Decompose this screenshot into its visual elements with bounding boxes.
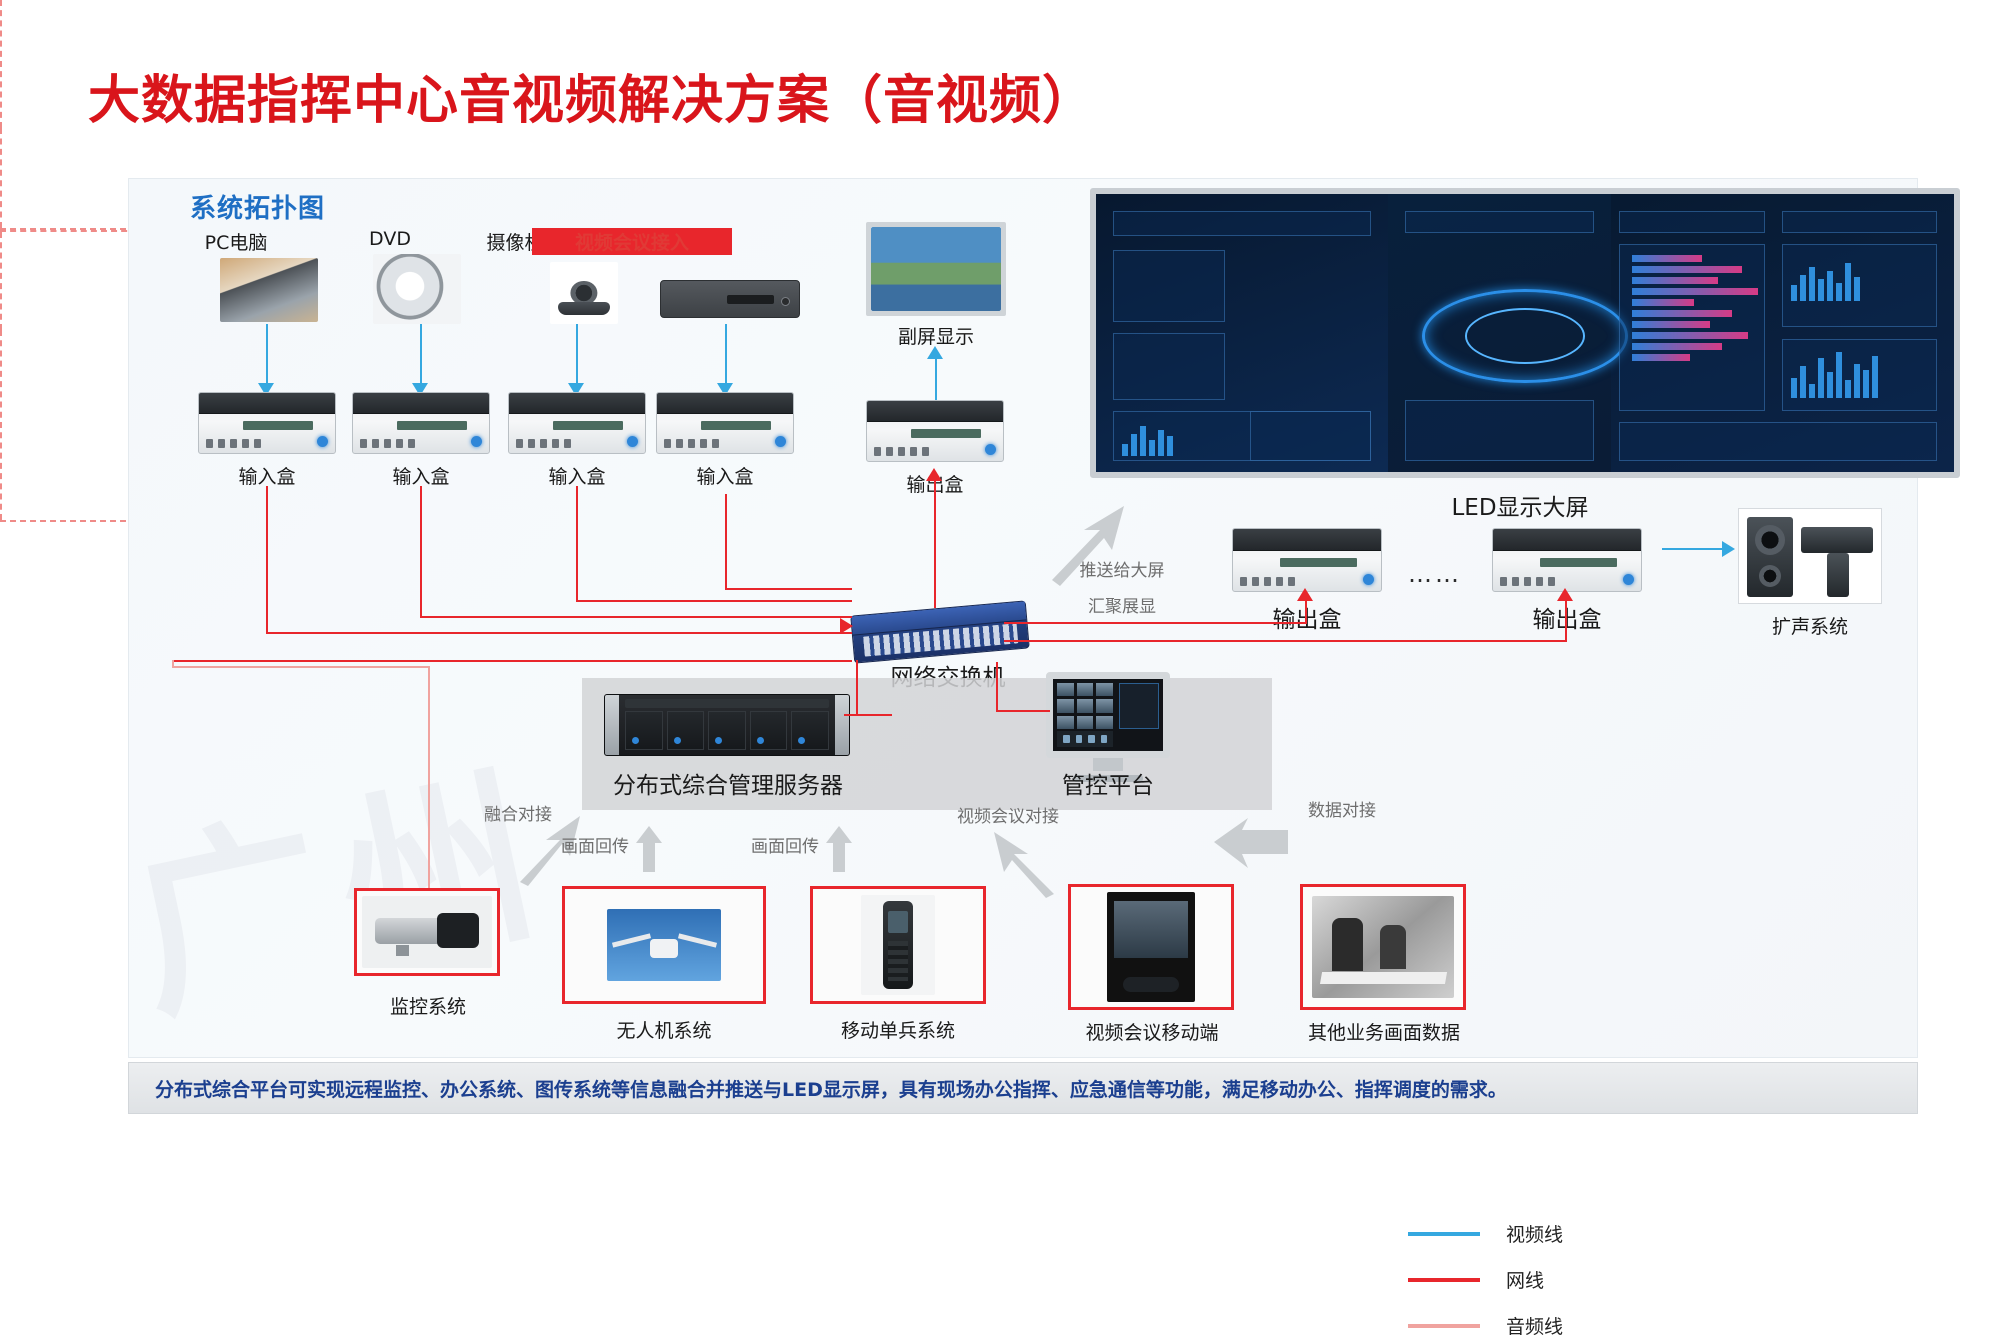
source-label-pc: PC电脑	[176, 228, 296, 255]
input-box-1	[198, 392, 336, 454]
video-line-vc	[725, 324, 727, 386]
annotation-image-return-1: 画面回传	[540, 832, 650, 857]
audio-line-to-pa	[1662, 548, 1726, 550]
audio-arrow-to-pa-icon	[1722, 541, 1735, 557]
net-line-inbox2-h	[420, 616, 852, 618]
input-box-3	[508, 392, 646, 454]
terminal-cctv-frame	[354, 888, 500, 976]
legend-item-network: 网线	[1408, 1266, 1544, 1293]
net-line-switch-to-suboutbox	[934, 480, 936, 608]
annotation-video-conf-dock: 视频会议对接	[918, 802, 1098, 827]
dvd-photo	[373, 254, 461, 324]
net-line-switch-down	[856, 660, 858, 714]
net-line-inbox3-h	[576, 600, 852, 602]
net-line-switch-to-server	[856, 714, 892, 716]
net-line-switch-outbox2-h	[1004, 640, 1567, 642]
net-line-switch-left-bus	[172, 660, 852, 662]
legend-label-audio: 音频线	[1506, 1312, 1563, 1339]
net-line-switch-outbox1-h	[1004, 622, 1307, 624]
net-line-inbox3-v	[576, 486, 578, 602]
data-link-office-v	[0, 330, 2, 520]
terminal-drone-frame	[562, 886, 766, 1004]
audio-line-cctv-corner	[172, 660, 174, 668]
input-box-2	[352, 392, 490, 454]
pa-speaker-icon	[1738, 508, 1882, 604]
footer-bar: 分布式综合平台可实现远程监控、办公系统、图传系统等信息融合并推送与LED显示屏，…	[128, 1062, 1918, 1114]
source-label-dvd: DVD	[330, 228, 450, 250]
audio-line-cctv-v	[428, 666, 430, 888]
net-line-server-stub	[844, 714, 858, 716]
terminal-radio-frame	[810, 886, 986, 1004]
sub-display-label: 副屏显示	[856, 322, 1016, 349]
net-line-console-v	[996, 662, 998, 710]
output-box-1	[1232, 528, 1382, 592]
net-arrow-suboutbox-icon	[926, 468, 942, 481]
terminal-drone-label: 无人机系统	[560, 1016, 768, 1043]
video-conf-dock-arrow-icon	[984, 828, 1058, 898]
input-box-4	[656, 392, 794, 454]
net-line-inbox1-v	[266, 486, 268, 634]
input-box-4-label: 输入盒	[656, 462, 794, 489]
net-arrow-outbox2-icon	[1557, 588, 1573, 601]
net-line-inbox1-h	[266, 632, 852, 634]
footer-caption: 分布式综合平台可实现远程监控、办公系统、图传系统等信息融合并推送与LED显示屏，…	[129, 1075, 1507, 1102]
terminal-cctv-label: 监控系统	[350, 992, 506, 1019]
legend-item-audio: 音频线	[1408, 1312, 1563, 1339]
camera-photo	[550, 262, 618, 324]
terminal-office-frame	[1300, 884, 1466, 1010]
push-note-line1: 推送给大屏	[1032, 556, 1212, 581]
section-label-topology: 系统拓扑图	[190, 188, 325, 225]
terminal-radio-label: 移动单兵系统	[802, 1016, 994, 1043]
video-conference-box	[660, 280, 800, 318]
led-wall-label: LED显示大屏	[1330, 488, 1710, 522]
terminal-phone-frame	[1068, 884, 1234, 1010]
legend-label-video: 视频线	[1506, 1220, 1563, 1247]
pc-photo	[220, 258, 318, 322]
legend-swatch-network	[1408, 1278, 1480, 1282]
terminal-phone-label: 视频会议移动端	[1056, 1018, 1248, 1045]
annotation-data-dock: 数据对接	[1272, 796, 1412, 821]
audio-line-cctv-h	[172, 666, 430, 668]
data-link-phone-v	[0, 232, 2, 330]
legend-swatch-audio	[1408, 1324, 1480, 1328]
input-box-2-label: 输入盒	[352, 462, 490, 489]
input-box-3-label: 输入盒	[508, 462, 646, 489]
legend-item-video: 视频线	[1408, 1220, 1563, 1247]
legend-label-network: 网线	[1506, 1266, 1544, 1293]
net-arrow-outbox1-icon	[1297, 588, 1313, 601]
annotation-fusion-dock: 融合对接	[448, 800, 588, 825]
data-link-radio-v	[0, 128, 2, 228]
pa-system-label: 扩声系统	[1738, 612, 1882, 639]
management-console-label: 管控平台	[1036, 766, 1180, 800]
net-line-inbox2-v	[420, 486, 422, 618]
net-line-inbox4-v	[725, 494, 727, 590]
annotation-image-return-2: 画面回传	[730, 832, 840, 857]
page-title: 大数据指挥中心音视频解决方案（音视频）	[88, 58, 1095, 133]
data-dock-arrow-icon	[1212, 812, 1290, 874]
output-box-2	[1492, 528, 1642, 592]
video-line-camera	[576, 324, 578, 386]
led-display-wall	[1090, 188, 1960, 478]
output-box-sub	[866, 400, 1004, 462]
output-boxes-ellipsis: ……	[1408, 560, 1462, 588]
push-note-line2: 汇聚展显	[1032, 592, 1212, 617]
video-line-pc	[266, 324, 268, 386]
terminal-office-label: 其他业务画面数据	[1288, 1018, 1480, 1045]
net-arrow-into-switch-icon	[840, 618, 853, 634]
source-label-video-conference: 视频会议接入	[532, 228, 732, 255]
sub-display-screen	[866, 222, 1006, 316]
output-box-2-label: 输出盒	[1492, 600, 1642, 634]
management-server	[604, 694, 850, 756]
net-line-inbox4-h	[725, 588, 852, 590]
net-line-console-h	[996, 710, 1050, 712]
net-line-switch-outbox1-v	[1305, 600, 1307, 624]
net-line-switch-outbox2-v	[1565, 600, 1567, 642]
data-link-drone-v	[0, 0, 2, 128]
legend-swatch-video	[1408, 1232, 1480, 1236]
output-box-1-label: 输出盒	[1232, 600, 1382, 634]
input-box-1-label: 输入盒	[198, 462, 336, 489]
video-arrow-subdisplay-icon	[927, 346, 943, 359]
video-line-dvd	[420, 324, 422, 386]
video-line-subdisplay	[935, 352, 937, 400]
management-server-label: 分布式综合管理服务器	[588, 766, 868, 800]
